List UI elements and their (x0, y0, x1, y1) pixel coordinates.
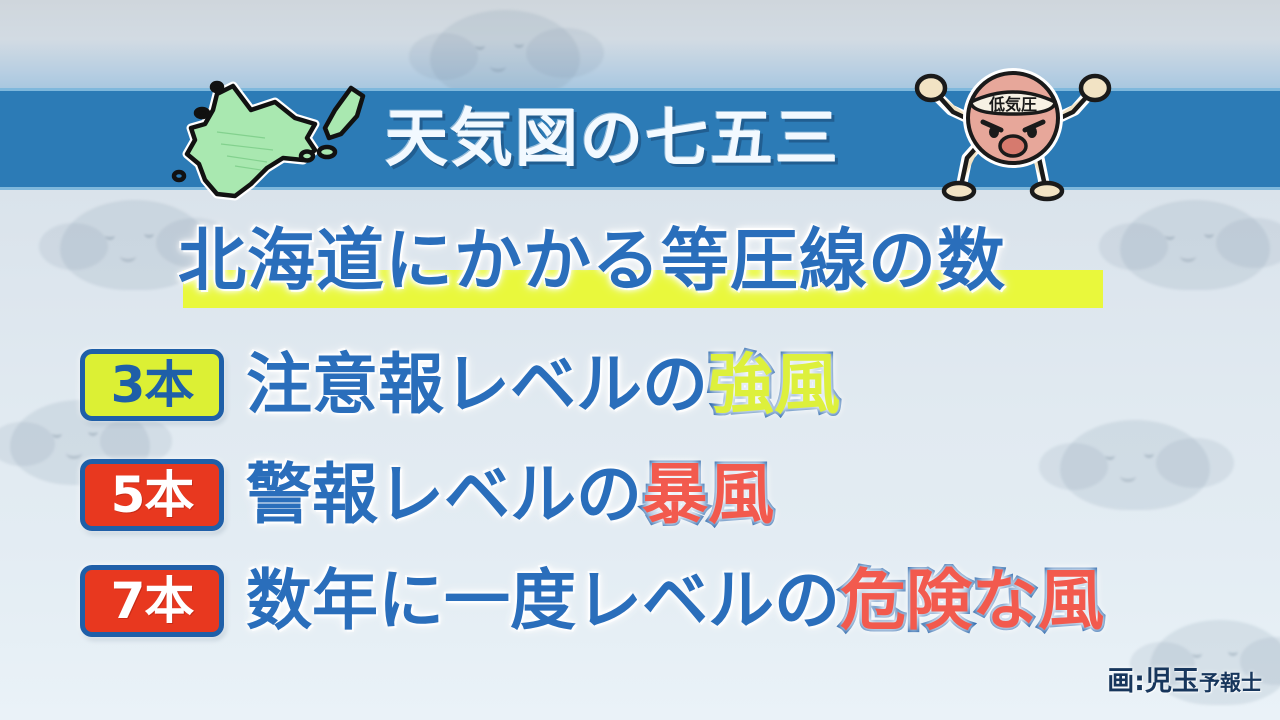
list-item: 3本 注意報レベルの強風 (80, 342, 840, 428)
count-badge-7: 7本 (80, 565, 224, 637)
row-text-prefix: 数年に一度レベルの (246, 562, 840, 639)
list-item: 7本 数年に一度レベルの危険な風 (80, 558, 1104, 644)
illustration-credit: 画:児玉予報士 (1107, 659, 1262, 698)
row-emphasis: 暴風 (642, 456, 774, 533)
low-pressure-mascot-icon: 低気圧 (905, 62, 1120, 207)
hokkaido-map-icon (155, 72, 385, 212)
row-text: 警報レベルの暴風 (246, 452, 774, 538)
credit-suffix: 予報士 (1199, 671, 1262, 695)
row-text: 数年に一度レベルの危険な風 (246, 558, 1104, 644)
mascot-headband-text: 低気圧 (988, 95, 1037, 114)
list-item: 5本 警報レベルの暴風 (80, 452, 774, 538)
credit-prefix: 画:児玉 (1107, 666, 1199, 697)
row-text-prefix: 警報レベルの (246, 456, 642, 533)
subtitle-text: 北海道にかかる等圧線の数 (178, 218, 1006, 306)
subtitle-block: 北海道にかかる等圧線の数 (178, 218, 1006, 310)
row-text: 注意報レベルの強風 (246, 342, 840, 428)
count-badge-3: 3本 (80, 349, 224, 421)
page-title: 天気図の七五三 (385, 93, 840, 185)
row-emphasis: 強風 (708, 346, 840, 423)
row-emphasis: 危険な風 (840, 562, 1104, 639)
cloud-watermark (1120, 200, 1270, 290)
cloud-watermark (1060, 420, 1210, 510)
count-badge-5: 5本 (80, 459, 224, 531)
weather-graphic-slide: 低気圧 天気図の七五三 北海道にかかる等圧線の数 3本 注意報レベルの強風 5本… (0, 0, 1280, 720)
cloud-watermark (430, 10, 580, 100)
row-text-prefix: 注意報レベルの (246, 346, 708, 423)
